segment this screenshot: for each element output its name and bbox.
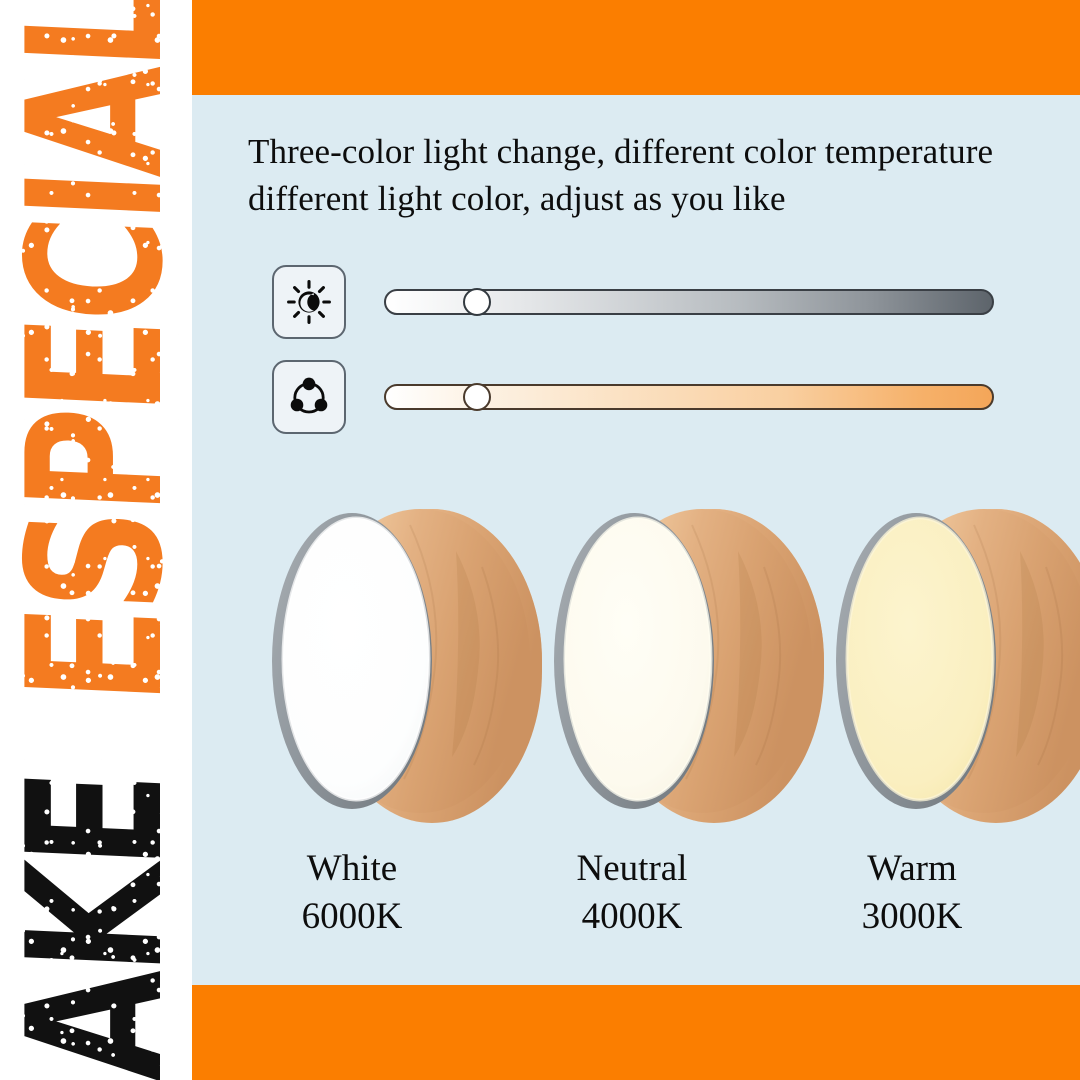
lamp-image-white	[260, 485, 560, 835]
brand-wordmark-especial: ESPECIAL	[10, 0, 181, 707]
headline-line-2: different light color, adjust as you lik…	[248, 176, 1048, 223]
brightness-sun-icon	[286, 279, 332, 325]
brand-sidebar: JAKE ESPECIAL	[0, 0, 192, 1080]
lamp-showcase-row	[192, 485, 1080, 845]
color-temperature-slider-thumb[interactable]	[463, 383, 491, 411]
headline-line-1: Three-color light change, different colo…	[248, 129, 1048, 176]
lamp-caption-white: White 6000K	[222, 845, 482, 941]
lamp-kelvin-warm: 3000K	[782, 893, 1042, 941]
brightness-slider[interactable]	[384, 289, 994, 315]
top-orange-band	[192, 0, 1080, 95]
color-temperature-control-row	[272, 360, 994, 434]
bottom-orange-band	[192, 985, 1080, 1080]
color-temperature-icon	[286, 374, 332, 420]
lamp-image-neutral	[542, 485, 842, 835]
color-temperature-icon-box[interactable]	[272, 360, 346, 434]
lamp-name-neutral: Neutral	[502, 845, 762, 893]
brand-wordmark-jake: JAKE	[10, 772, 181, 1080]
lamp-caption-row: White 6000K Neutral 4000K Warm 3000K	[192, 845, 1080, 955]
lamp-kelvin-neutral: 4000K	[502, 893, 762, 941]
lamp-name-warm: Warm	[782, 845, 1042, 893]
lamp-caption-warm: Warm 3000K	[782, 845, 1042, 941]
color-temperature-slider[interactable]	[384, 384, 994, 410]
headline: Three-color light change, different colo…	[248, 129, 1048, 222]
lamp-kelvin-white: 6000K	[222, 893, 482, 941]
brightness-control-row	[272, 265, 994, 339]
brightness-icon-box[interactable]	[272, 265, 346, 339]
lamp-name-white: White	[222, 845, 482, 893]
infographic-page: JAKE ESPECIAL Three-color light change, …	[0, 0, 1080, 1080]
lamp-image-warm	[824, 485, 1080, 835]
brightness-slider-thumb[interactable]	[463, 288, 491, 316]
lamp-caption-neutral: Neutral 4000K	[502, 845, 762, 941]
brand-wordmark: JAKE ESPECIAL	[1, 40, 191, 1040]
content-panel: Three-color light change, different colo…	[192, 95, 1080, 985]
